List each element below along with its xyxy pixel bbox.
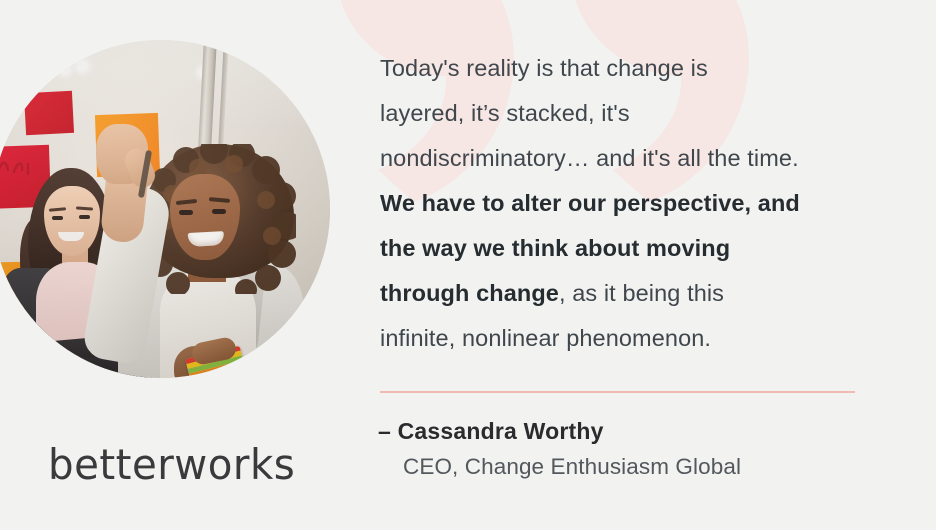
betterworks-logo: betterworks bbox=[48, 440, 295, 489]
photo-content bbox=[0, 40, 330, 378]
quote-tail-1: , as it being this bbox=[559, 280, 724, 306]
quote-card: betterworks Today's reality is that chan… bbox=[0, 0, 936, 530]
quote-bold-1: We have to alter our perspective, and bbox=[380, 190, 800, 216]
quote-line-6: through change, as it being this bbox=[380, 271, 900, 316]
quote-line-3: nondiscriminatory… and it's all the time… bbox=[380, 136, 900, 181]
speaker-name-row: – Cassandra Worthy bbox=[378, 418, 898, 445]
divider bbox=[380, 391, 855, 393]
speaker-photo bbox=[0, 40, 330, 378]
quote-line-2: layered, it’s stacked, it's bbox=[380, 91, 900, 136]
quote-line-4: We have to alter our perspective, and bbox=[380, 181, 900, 226]
attribution: – Cassandra Worthy CEO, Change Enthusias… bbox=[378, 418, 898, 480]
quote-bold-2: the way we think about moving bbox=[380, 235, 730, 261]
em-dash: – bbox=[378, 418, 391, 444]
quote-text: Today's reality is that change is layere… bbox=[380, 46, 900, 361]
quote-line-7: infinite, nonlinear phenomenon. bbox=[380, 316, 900, 361]
speaker-name: Cassandra Worthy bbox=[398, 418, 604, 444]
speaker-role: CEO, Change Enthusiasm Global bbox=[403, 454, 898, 480]
quote-line-1: Today's reality is that change is bbox=[380, 46, 900, 91]
quote-bold-3: through change bbox=[380, 280, 559, 306]
quote-line-5: the way we think about moving bbox=[380, 226, 900, 271]
